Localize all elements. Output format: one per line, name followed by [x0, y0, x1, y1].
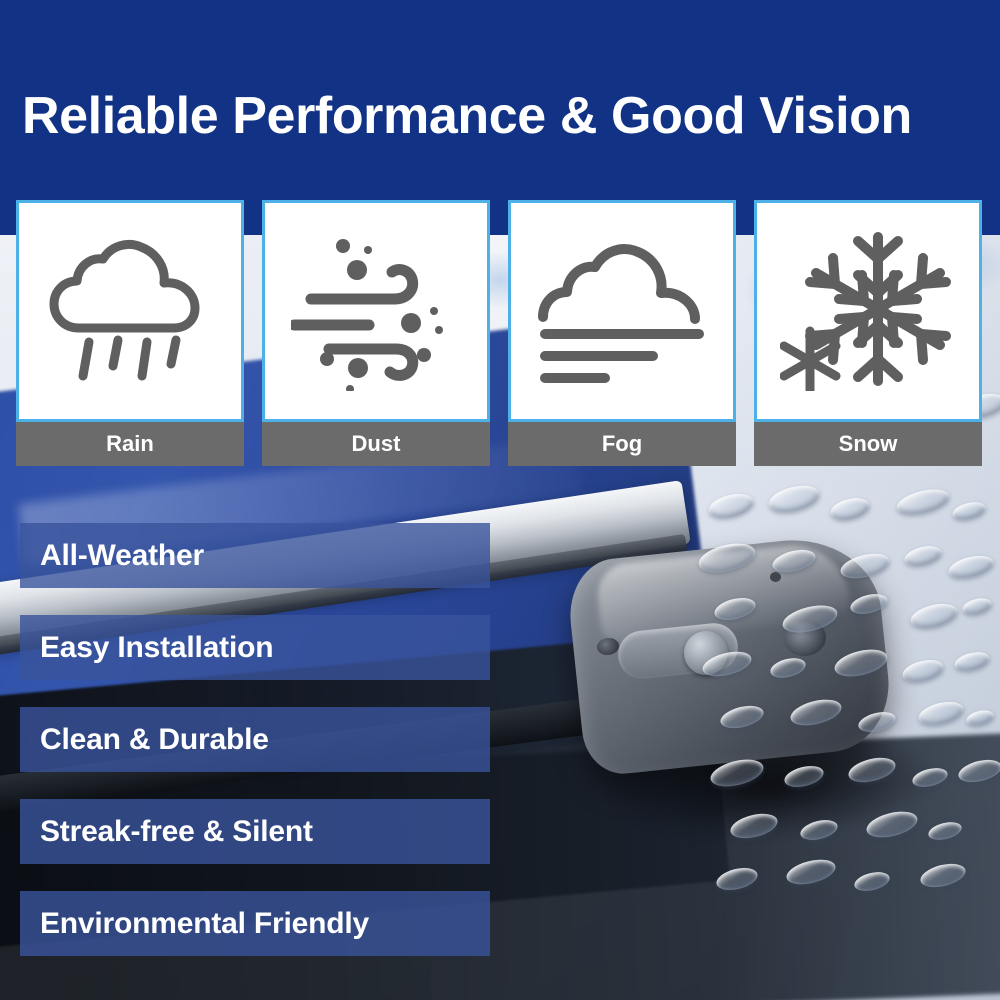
weather-card-snow-box: [754, 200, 982, 422]
water-droplet: [864, 807, 920, 842]
water-droplet: [696, 538, 759, 577]
cloud-rain-icon: [19, 203, 241, 419]
feature-list: All-Weather Easy Installation Clean & Du…: [20, 523, 490, 983]
water-droplet: [788, 695, 844, 730]
water-droplet: [770, 546, 818, 576]
feature-label: Streak-free & Silent: [20, 815, 313, 849]
water-droplet: [910, 765, 949, 790]
weather-card-fog[interactable]: Fog: [508, 200, 736, 466]
weather-card-snow-label: Snow: [754, 422, 982, 466]
feature-label: All-Weather: [20, 539, 204, 573]
water-droplet: [828, 494, 872, 523]
water-droplet: [918, 860, 968, 892]
feature-bar-easy-installation[interactable]: Easy Installation: [20, 615, 490, 680]
water-droplet: [708, 755, 766, 791]
weather-card-rain[interactable]: Rain: [16, 200, 244, 466]
page-title: Reliable Performance & Good Vision: [22, 88, 982, 145]
water-droplet: [961, 596, 994, 618]
weather-card-dust-label: Dust: [262, 422, 490, 466]
feature-label: Clean & Durable: [20, 723, 269, 757]
water-droplet: [784, 855, 838, 888]
water-droplet: [780, 601, 840, 638]
product-infographic: Reliable Performance & Good Vision Rain: [0, 0, 1000, 1000]
weather-card-row: Rain: [16, 200, 984, 475]
water-droplet: [927, 819, 964, 843]
water-droplet: [782, 762, 825, 790]
water-droplet: [965, 708, 996, 728]
weather-card-fog-label: Fog: [508, 422, 736, 466]
water-droplet: [706, 490, 756, 522]
weather-card-dust-box: [262, 200, 490, 422]
snowflake-icon: [757, 203, 979, 419]
water-droplet: [856, 709, 897, 736]
water-droplet: [798, 817, 839, 844]
water-droplet: [902, 543, 943, 570]
feature-bar-all-weather[interactable]: All-Weather: [20, 523, 490, 588]
water-droplet: [956, 756, 1000, 786]
water-droplet: [846, 754, 898, 787]
weather-card-fog-box: [508, 200, 736, 422]
water-droplet: [946, 552, 995, 583]
water-droplet: [848, 591, 889, 618]
feature-bar-clean-durable[interactable]: Clean & Durable: [20, 707, 490, 772]
water-droplet: [718, 702, 766, 732]
water-droplet: [728, 810, 780, 843]
feature-label: Easy Installation: [20, 631, 273, 665]
water-droplet: [952, 649, 991, 674]
water-droplet: [832, 645, 890, 681]
weather-card-dust[interactable]: Dust: [262, 200, 490, 466]
weather-card-rain-box: [16, 200, 244, 422]
water-droplet: [714, 864, 760, 894]
water-droplet: [766, 481, 822, 517]
feature-label: Environmental Friendly: [20, 907, 369, 941]
water-droplet: [712, 594, 758, 624]
water-droplet: [768, 655, 807, 681]
water-droplet: [916, 698, 966, 730]
water-droplet: [951, 499, 988, 523]
water-droplet: [852, 869, 891, 894]
wind-dust-icon: [265, 203, 487, 419]
water-droplet: [838, 549, 892, 582]
feature-bar-streak-free-silent[interactable]: Streak-free & Silent: [20, 799, 490, 864]
water-droplet: [900, 656, 946, 686]
water-droplet: [700, 647, 754, 680]
cloud-fog-icon: [511, 203, 733, 419]
weather-card-rain-label: Rain: [16, 422, 244, 466]
water-droplet: [894, 485, 952, 519]
water-droplet: [908, 600, 960, 633]
weather-card-snow[interactable]: Snow: [754, 200, 982, 466]
feature-bar-environmental-friendly[interactable]: Environmental Friendly: [20, 891, 490, 956]
